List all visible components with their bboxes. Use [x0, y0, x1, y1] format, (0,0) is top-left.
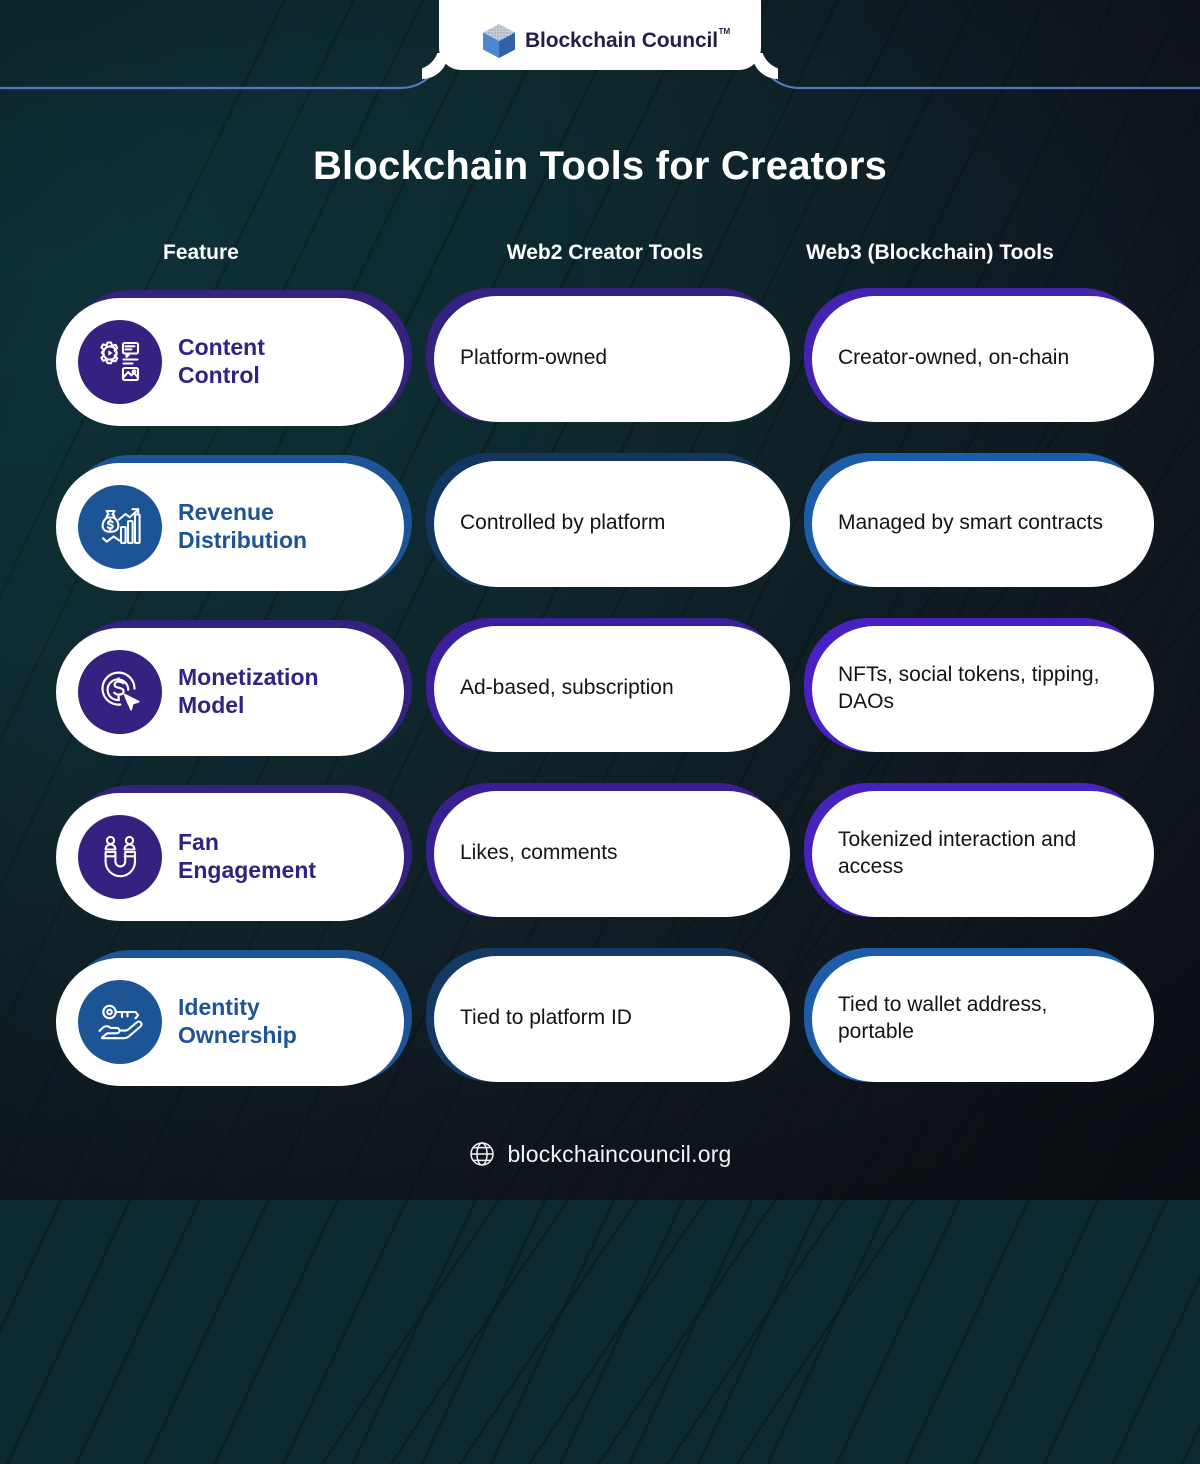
web3-text: Managed by smart contracts: [838, 510, 1103, 537]
web2-text: Likes, comments: [460, 840, 618, 867]
money-bag-growth-chart-icon: [78, 485, 162, 569]
feature-pill[interactable]: Revenue Distribution: [56, 463, 404, 591]
feature-cell: Identity Ownership: [48, 944, 420, 1090]
web3-cell: Creator-owned, on-chain: [800, 284, 1156, 430]
dollar-coin-cursor-icon: [78, 650, 162, 734]
feature-cell: Revenue Distribution: [48, 449, 420, 595]
comparison-table: Feature Web2 Creator Tools Web3 (Blockch…: [48, 232, 1156, 1099]
table-row: Revenue Distribution Controlled by platf…: [48, 439, 1156, 604]
table-row: Content Control Platform-owned Creator-o…: [48, 274, 1156, 439]
web2-cell: Platform-owned: [420, 284, 800, 430]
header: Blockchain Council TM: [0, 0, 1200, 100]
web2-card[interactable]: Platform-owned: [434, 296, 790, 422]
web3-card[interactable]: Managed by smart contracts: [812, 461, 1154, 587]
gear-play-media-icon: [78, 320, 162, 404]
feature-pill[interactable]: Monetization Model: [56, 628, 404, 756]
table-row: Identity Ownership Tied to platform ID T…: [48, 934, 1156, 1099]
web2-card[interactable]: Likes, comments: [434, 791, 790, 917]
logo-plate: Blockchain Council TM: [439, 0, 761, 70]
web3-cell: NFTs, social tokens, tipping, DAOs: [800, 614, 1156, 760]
feature-label: Revenue Distribution: [178, 499, 307, 554]
web2-cell: Likes, comments: [420, 779, 800, 925]
web3-cell: Managed by smart contracts: [800, 449, 1156, 595]
web2-cell: Ad-based, subscription: [420, 614, 800, 760]
magnet-people-icon: [78, 815, 162, 899]
feature-label: Fan Engagement: [178, 829, 316, 884]
web2-card[interactable]: Tied to platform ID: [434, 956, 790, 1082]
feature-label: Content Control: [178, 334, 265, 389]
trademark-symbol: TM: [719, 27, 730, 36]
globe-icon: [468, 1140, 496, 1168]
web3-text: Tokenized interaction and access: [838, 827, 1128, 881]
page-title: Blockchain Tools for Creators: [0, 144, 1200, 189]
feature-cell: Content Control: [48, 284, 420, 430]
logo-text-wrap: Blockchain Council TM: [525, 29, 718, 53]
footer: blockchaincouncil.org: [0, 1140, 1200, 1168]
brand-logo[interactable]: Blockchain Council TM: [482, 23, 718, 59]
table-row: Fan Engagement Likes, comments Tokenized…: [48, 769, 1156, 934]
feature-label: Monetization Model: [178, 664, 319, 719]
cube-icon: [482, 23, 516, 59]
web3-cell: Tied to wallet address, portable: [800, 944, 1156, 1090]
web3-card[interactable]: Creator-owned, on-chain: [812, 296, 1154, 422]
column-header-web2: Web2 Creator Tools: [420, 241, 800, 265]
feature-cell: Monetization Model: [48, 614, 420, 760]
web3-cell: Tokenized interaction and access: [800, 779, 1156, 925]
hand-holding-key-icon: [78, 980, 162, 1064]
web3-card[interactable]: Tokenized interaction and access: [812, 791, 1154, 917]
web3-text: Creator-owned, on-chain: [838, 345, 1069, 372]
footer-url[interactable]: blockchaincouncil.org: [507, 1141, 731, 1168]
web2-cell: Tied to platform ID: [420, 944, 800, 1090]
web2-text: Platform-owned: [460, 345, 607, 372]
feature-pill[interactable]: Content Control: [56, 298, 404, 426]
web2-cell: Controlled by platform: [420, 449, 800, 595]
web3-card[interactable]: Tied to wallet address, portable: [812, 956, 1154, 1082]
feature-cell: Fan Engagement: [48, 779, 420, 925]
web3-text: NFTs, social tokens, tipping, DAOs: [838, 662, 1128, 716]
column-header-web3: Web3 (Blockchain) Tools: [800, 241, 1156, 265]
web2-text: Controlled by platform: [460, 510, 665, 537]
web3-card[interactable]: NFTs, social tokens, tipping, DAOs: [812, 626, 1154, 752]
web2-card[interactable]: Controlled by platform: [434, 461, 790, 587]
logo-text: Blockchain Council: [525, 29, 718, 52]
web2-text: Tied to platform ID: [460, 1005, 632, 1032]
web2-text: Ad-based, subscription: [460, 675, 674, 702]
feature-pill[interactable]: Identity Ownership: [56, 958, 404, 1086]
column-header-feature: Feature: [48, 241, 420, 265]
web2-card[interactable]: Ad-based, subscription: [434, 626, 790, 752]
web3-text: Tied to wallet address, portable: [838, 992, 1128, 1046]
feature-label: Identity Ownership: [178, 994, 297, 1049]
feature-pill[interactable]: Fan Engagement: [56, 793, 404, 921]
table-header-row: Feature Web2 Creator Tools Web3 (Blockch…: [48, 232, 1156, 274]
table-row: Monetization Model Ad-based, subscriptio…: [48, 604, 1156, 769]
